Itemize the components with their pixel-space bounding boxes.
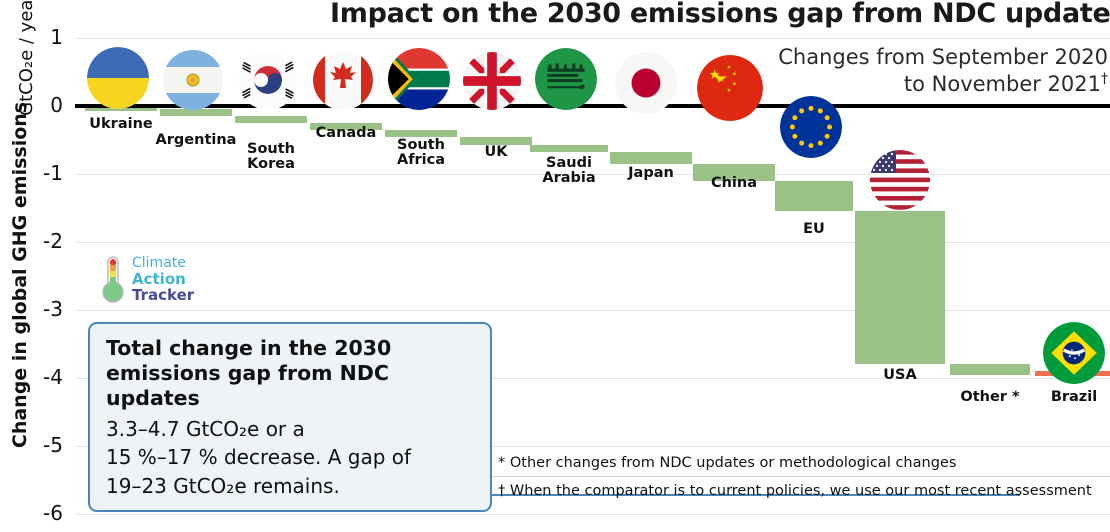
footnote-divider	[492, 476, 1110, 477]
climate-action-tracker-logo: Climate Action Tracker	[100, 255, 210, 307]
bar-usa[interactable]	[855, 211, 945, 364]
gridline	[75, 514, 1110, 515]
y-axis-tick-label: -3	[23, 297, 63, 321]
bar-other[interactable]	[950, 364, 1030, 374]
flag-china-icon	[697, 55, 763, 121]
subcaption-line-1: Changes from September 2020	[778, 45, 1108, 69]
callout-line-1: 3.3–4.7 GtCO₂e or a	[106, 415, 474, 443]
gridline	[75, 242, 1110, 243]
bar-japan[interactable]	[610, 152, 692, 164]
logo-line-1: Climate	[132, 256, 194, 271]
bar-saudi-arabia[interactable]	[530, 145, 608, 152]
y-axis-tick-label: -4	[23, 365, 63, 389]
flag-argentina-icon	[163, 50, 223, 110]
bar-label-ukraine: Ukraine	[71, 117, 171, 132]
bar-label-usa: USA	[841, 368, 959, 383]
callout-line-3: 19–23 GtCO₂e remains.	[106, 472, 474, 500]
flag-south-korea-icon	[238, 50, 298, 110]
bar-south-africa[interactable]	[385, 130, 457, 137]
flag-eu-icon	[780, 96, 842, 158]
y-axis-tick-label: -1	[23, 161, 63, 185]
footnote-dagger: † When the comparator is to current poli…	[498, 483, 1092, 499]
flag-japan-icon	[615, 52, 677, 114]
bar-eu[interactable]	[775, 181, 853, 212]
logo-line-2: Action	[132, 271, 194, 287]
bar-argentina[interactable]	[160, 109, 232, 116]
subcaption-marker: †	[1101, 71, 1108, 87]
flag-brazil-icon	[1043, 322, 1105, 384]
y-axis-tick-label: -2	[23, 229, 63, 253]
y-axis-tick-label: -6	[23, 501, 63, 525]
bar-label-south-korea: South Korea	[221, 142, 321, 172]
gridline	[75, 38, 1110, 39]
bar-label-brazil: Brazil	[1021, 390, 1110, 405]
y-axis-tick-label: -5	[23, 433, 63, 457]
bar-label-eu: EU	[761, 222, 867, 237]
flag-saudi-arabia-icon	[535, 48, 597, 110]
callout-heading: Total change in the 2030 emissions gap f…	[106, 336, 474, 411]
subcaption-line-2: to November 2021	[904, 72, 1101, 96]
flag-usa-icon	[870, 150, 930, 210]
flag-canada-icon	[313, 50, 373, 110]
zero-axis-line	[75, 104, 1110, 108]
summary-callout: Total change in the 2030 emissions gap f…	[88, 322, 492, 512]
bar-south-korea[interactable]	[235, 116, 307, 123]
gridline	[75, 310, 1110, 311]
y-axis-tick-label: 1	[23, 25, 63, 49]
thermometer-icon	[100, 255, 126, 305]
bar-label-china: China	[679, 176, 789, 191]
footnote-asterisk: * Other changes from NDC updates or meth…	[498, 455, 956, 471]
flag-ukraine-icon	[87, 47, 149, 109]
y-axis-tick-label: 0	[23, 93, 63, 117]
flag-uk-icon	[463, 52, 521, 110]
flag-south-africa-icon	[388, 48, 450, 110]
logo-line-3: Tracker	[132, 287, 194, 303]
callout-line-2: 15 %–17 % decrease. A gap of	[106, 443, 474, 471]
